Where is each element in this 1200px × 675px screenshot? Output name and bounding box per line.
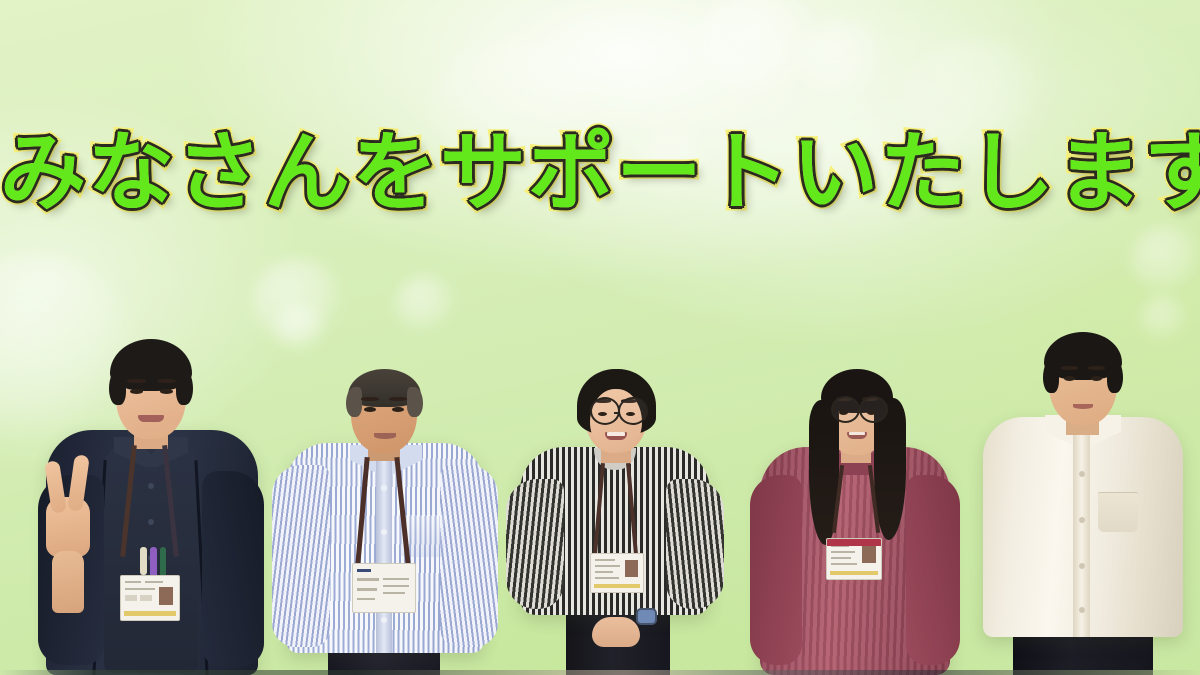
person-1-badge-photo — [159, 587, 173, 605]
person-3-hands — [592, 617, 640, 647]
person-5-eye — [1091, 376, 1102, 381]
video-frame: みなさんをサポートいたします！！ — [0, 0, 1200, 675]
frame-bottom-edge — [0, 670, 1200, 675]
person-5-button — [1079, 517, 1085, 523]
person-3-sleeve-right — [666, 479, 724, 609]
person-5 — [965, 315, 1200, 675]
person-2-hair-side — [346, 387, 362, 417]
person-3-sleeve-left — [506, 479, 564, 609]
person-4-sleeve-right — [906, 475, 960, 665]
person-1-eyebrow — [157, 379, 176, 383]
person-4-sleeve-left — [750, 475, 802, 665]
person-4-eye — [867, 410, 876, 415]
person-1-button — [148, 519, 154, 525]
person-1-forearm — [52, 551, 84, 613]
person-4-teeth — [849, 432, 865, 435]
person-4-id-badge — [826, 538, 882, 580]
person-1-mouth — [138, 415, 164, 422]
person-1-hair-side — [109, 369, 126, 405]
person-2-sleeve-left — [272, 465, 330, 647]
person-2-eyebrow — [389, 397, 407, 401]
person-2-id-badge — [352, 563, 416, 613]
person-4-badge-strip — [830, 571, 878, 575]
person-4-badge-photo — [862, 545, 876, 563]
person-1-eye — [130, 389, 143, 394]
person-3-glasses-lens — [618, 397, 648, 425]
person-1-lanyard-charm — [160, 547, 166, 577]
person-5-eyebrow — [1061, 366, 1078, 370]
person-4 — [748, 345, 968, 675]
person-1-hair-side — [176, 369, 193, 405]
person-2-sleeve-right — [440, 465, 498, 647]
person-3 — [508, 370, 720, 675]
person-1-sleeve-right — [202, 471, 264, 667]
person-5-mouth — [1073, 404, 1093, 409]
person-3-glasses-bridge — [614, 412, 620, 415]
person-2-eye — [392, 407, 404, 412]
person-2 — [272, 363, 498, 675]
person-5-eye — [1064, 376, 1075, 381]
person-3-eye — [626, 412, 635, 416]
person-2-button — [381, 617, 387, 623]
person-1-eyebrow — [127, 379, 146, 383]
person-2-button — [381, 529, 387, 535]
person-5-button — [1079, 471, 1085, 477]
person-4-eye — [839, 410, 848, 415]
person-3-smartwatch — [638, 610, 655, 623]
person-3-badge-strip — [594, 584, 640, 588]
person-3-id-badge — [590, 553, 644, 593]
person-5-button — [1079, 563, 1085, 569]
person-2-mouth — [374, 433, 396, 439]
person-3-teeth — [607, 432, 625, 436]
person-1-eye — [160, 389, 173, 394]
person-3-badge-photo — [625, 560, 638, 577]
person-2-hair-side — [407, 387, 423, 417]
person-5-hair-side — [1043, 359, 1059, 393]
person-5-chest-pocket — [1098, 492, 1138, 532]
person-2-eyebrow — [361, 397, 379, 401]
person-1-button — [148, 483, 154, 489]
person-1 — [18, 327, 280, 675]
person-1-badge-strip — [124, 611, 176, 616]
person-4-glasses-bridge — [855, 410, 860, 413]
person-5-button — [1079, 607, 1085, 613]
person-5-hair-side — [1107, 359, 1123, 393]
person-2-eye — [364, 407, 376, 412]
person-5-eyebrow — [1088, 366, 1105, 370]
person-3-eye — [598, 412, 607, 416]
person-1-lanyard-charm — [140, 547, 147, 575]
person-2-button — [381, 485, 387, 491]
person-1-id-badge — [120, 575, 180, 621]
